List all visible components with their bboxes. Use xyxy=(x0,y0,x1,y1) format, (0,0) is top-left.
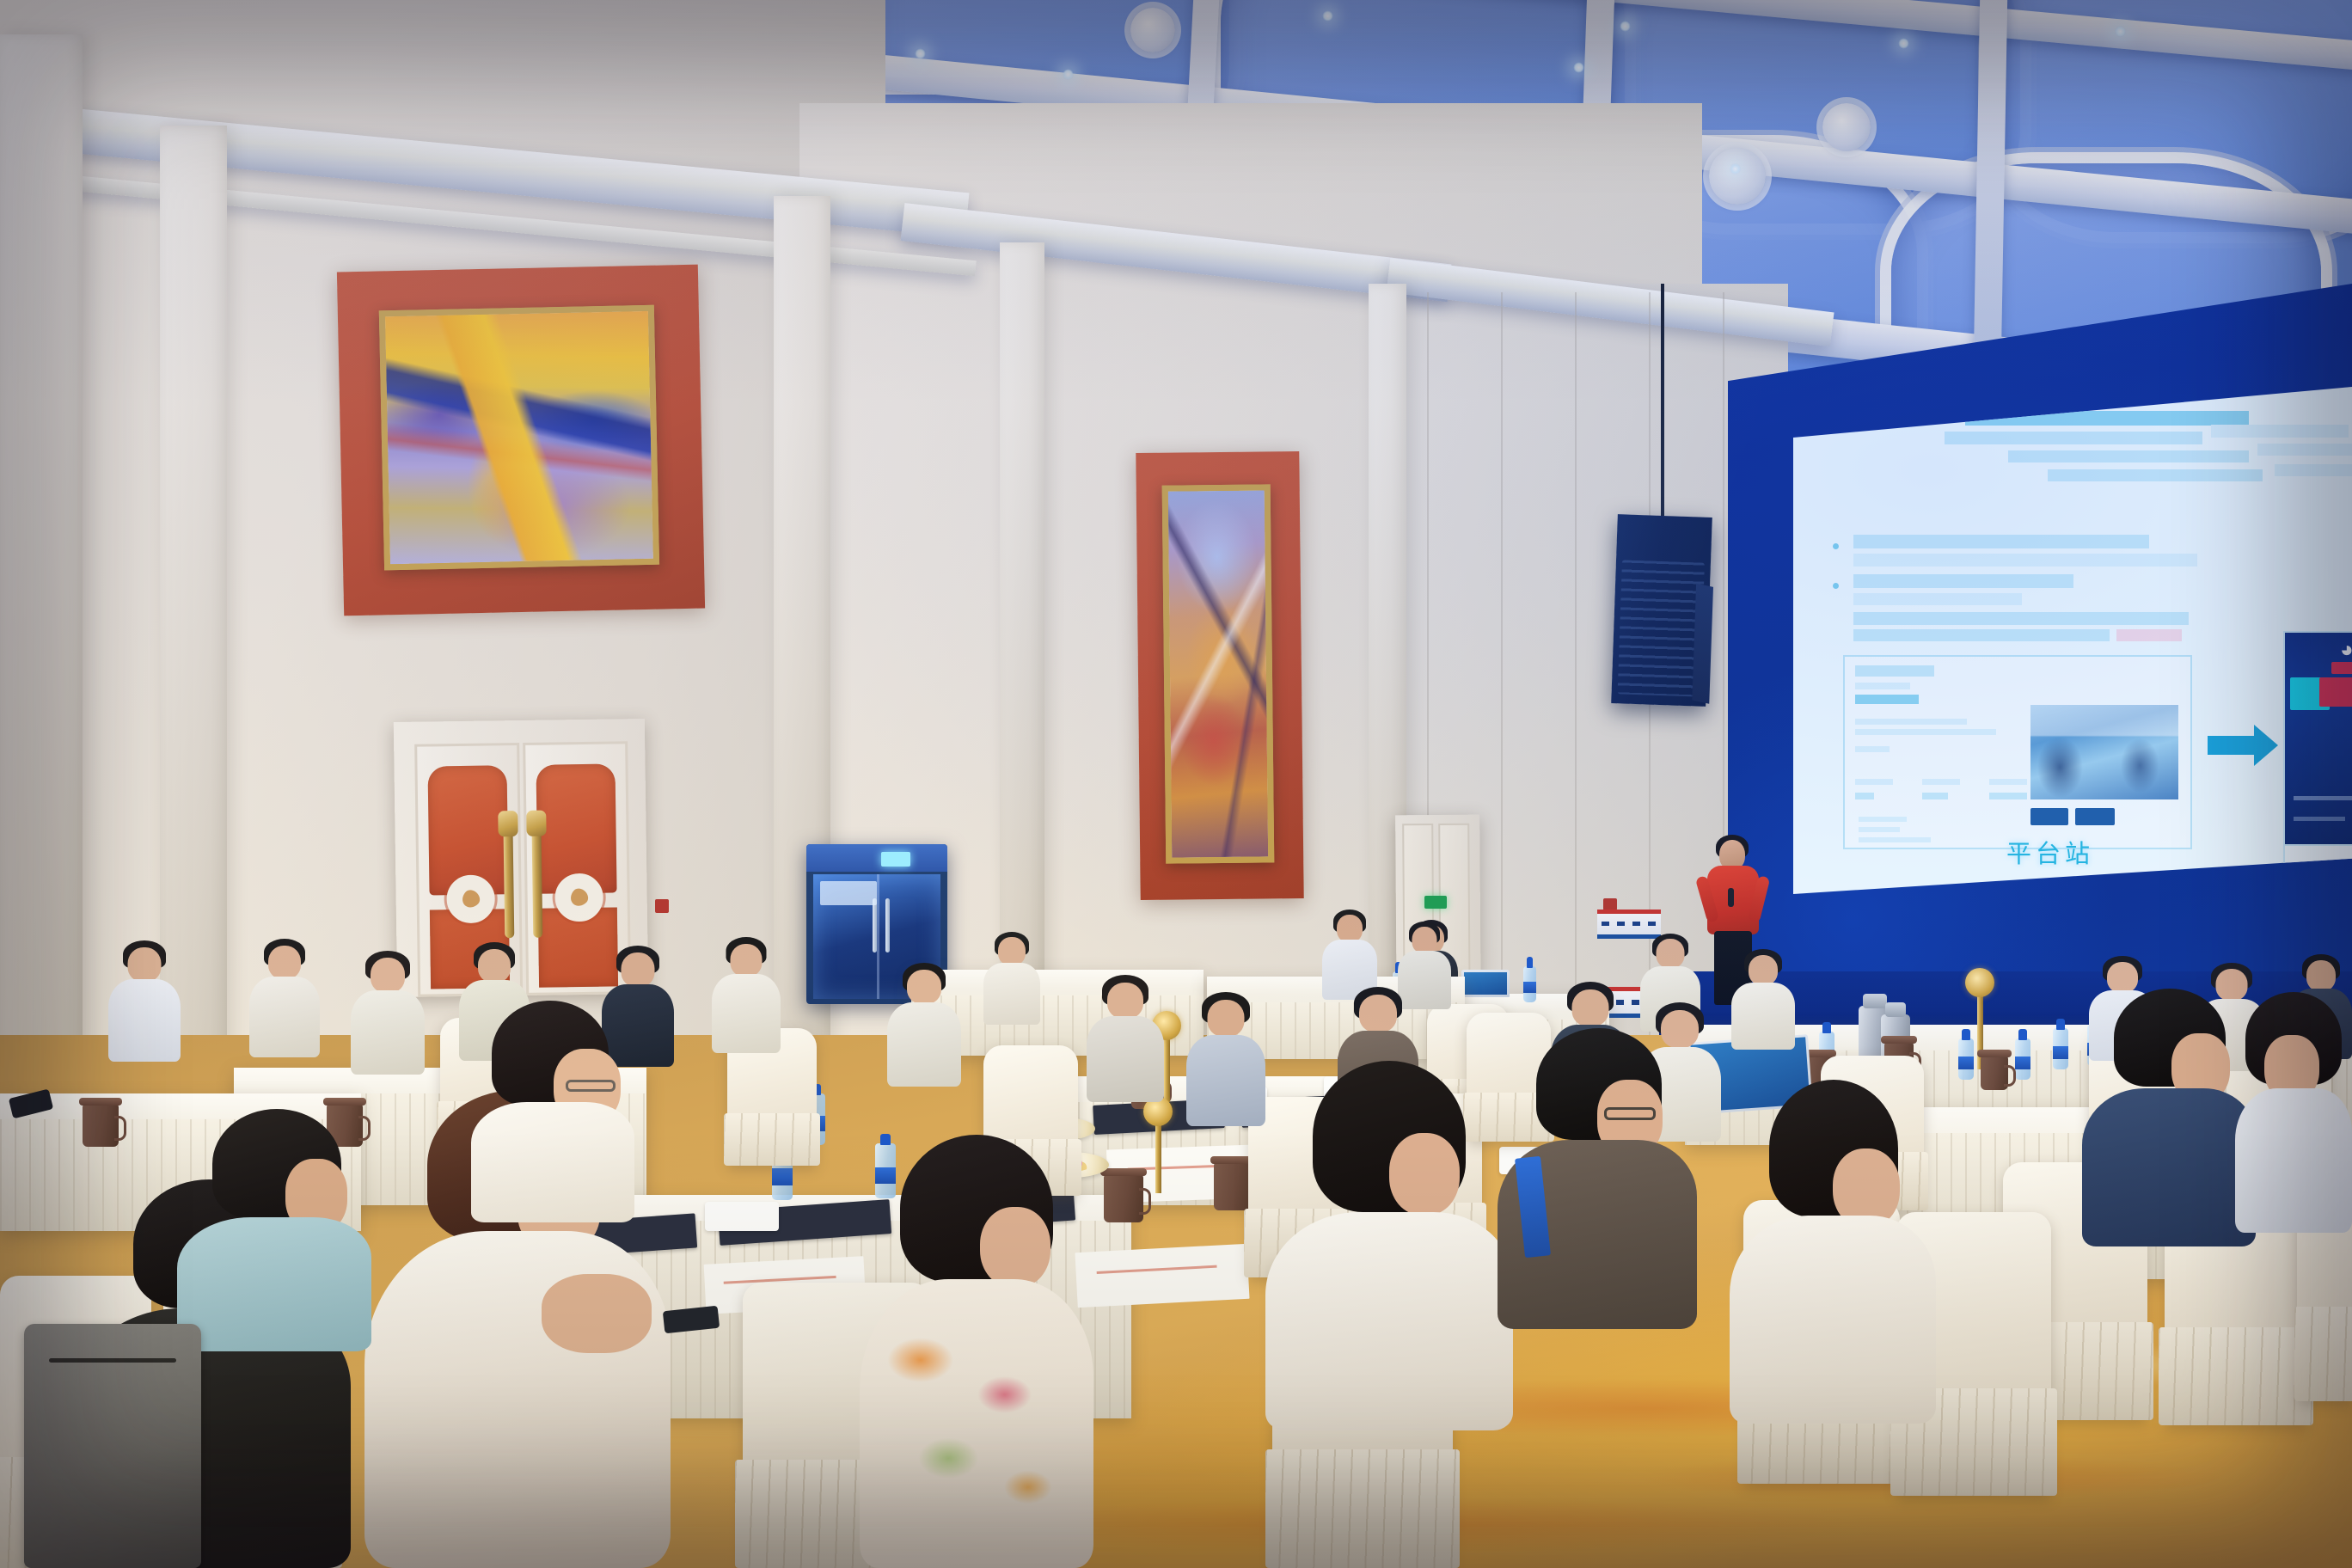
attendee xyxy=(887,963,961,1092)
attendee-foreground-grey-vest xyxy=(1496,1028,1702,1329)
table-number-stand xyxy=(1164,1038,1170,1102)
framed-painting-portrait xyxy=(1162,484,1275,863)
wifi-icon: ◕ xyxy=(2340,638,2352,660)
art-panel-portrait xyxy=(1136,451,1303,900)
attendee-torso xyxy=(471,1102,634,1222)
redacted-bullet-text xyxy=(1853,554,2197,567)
wall-pilaster xyxy=(1000,242,1044,1050)
mockup-list-item xyxy=(1859,817,1907,822)
redacted-text-block xyxy=(2048,469,2263,481)
speaker-suspension-cable xyxy=(1661,284,1664,516)
wall-alarm-icon xyxy=(655,899,669,913)
mockup-title-block xyxy=(1855,665,1934,677)
redacted-text-block xyxy=(1945,432,2202,444)
mobile-app-mockup: ◕ xyxy=(2283,631,2352,846)
wall-alarm-icon xyxy=(1603,898,1617,910)
attendee-torso xyxy=(2082,1088,2256,1246)
handheld-microphone-icon xyxy=(1728,888,1734,907)
fridge-display-icon xyxy=(881,852,910,867)
flow-arrow-icon xyxy=(2208,736,2256,755)
redacted-text-block xyxy=(2275,464,2352,476)
mockup-stat-label xyxy=(1922,779,1960,785)
ceiling-spotlight xyxy=(1898,38,1909,49)
redacted-text-block xyxy=(1853,612,2189,625)
attendee xyxy=(1186,992,1265,1133)
attendee xyxy=(249,939,320,1064)
attendee xyxy=(351,951,425,1083)
backpack[interactable] xyxy=(24,1324,201,1568)
redacted-bullet-text xyxy=(1853,574,2073,588)
attendee-torso xyxy=(1730,1216,1936,1424)
attendee xyxy=(1087,975,1164,1109)
ceiling-spotlight xyxy=(2115,26,2126,37)
app-text-line xyxy=(2294,817,2345,821)
door-handle[interactable] xyxy=(532,830,543,938)
framed-painting-landscape xyxy=(379,305,659,571)
painting-abstract-figure xyxy=(1168,490,1268,857)
mockup-stat-label xyxy=(1989,779,2027,785)
app-text-line xyxy=(2294,796,2352,800)
attendee-foreground-white-shirt xyxy=(1260,1061,1518,1430)
attendee-torso xyxy=(177,1217,371,1351)
eyeglasses-icon xyxy=(566,1080,616,1092)
mockup-button-secondary[interactable] xyxy=(2075,808,2115,825)
folded-napkin xyxy=(705,1202,779,1231)
mockup-text-block xyxy=(1855,729,1996,735)
attendee-face xyxy=(1389,1133,1460,1216)
water-bottle[interactable] xyxy=(1523,966,1536,1002)
fridge-handle-left[interactable] xyxy=(873,898,877,952)
fridge-handle-right[interactable] xyxy=(885,898,890,952)
attendee-foreground-floral xyxy=(856,1135,1097,1568)
mockup-stat-value xyxy=(1922,793,1948,799)
attendee xyxy=(108,940,181,1069)
mockup-text-block xyxy=(1855,719,1967,725)
mockup-button-primary[interactable] xyxy=(2030,808,2068,825)
painting-abstract-landscape xyxy=(385,311,653,564)
fridge-label xyxy=(820,881,877,905)
fridge-header xyxy=(806,844,947,872)
ceiling-spotlight xyxy=(1063,69,1074,80)
table-number-stand xyxy=(1155,1124,1161,1193)
attendee xyxy=(983,932,1040,1026)
speaker-grille-icon xyxy=(1617,560,1705,696)
fridge-door-divider xyxy=(877,874,879,999)
redacted-text-block xyxy=(1853,629,2110,641)
mockup-tag-block xyxy=(1855,695,1919,704)
bullet-marker-icon xyxy=(1833,583,1839,589)
door-handle[interactable] xyxy=(504,830,515,938)
ceiling-rosette xyxy=(1130,8,1175,52)
redacted-text-block xyxy=(2211,425,2349,438)
wall-pilaster xyxy=(0,34,83,1066)
ceiling-spotlight xyxy=(1620,21,1631,32)
redacted-text-block xyxy=(2257,444,2352,456)
mockup-text-block xyxy=(1855,746,1890,752)
water-bottle[interactable] xyxy=(2053,1028,2068,1069)
attendee-foreground-glasses xyxy=(464,1001,636,1216)
mockup-stat-label xyxy=(1855,779,1893,785)
attendee-foreground-ponytail xyxy=(1726,1080,1941,1424)
ceiling-spotlight xyxy=(1573,62,1584,73)
attendee-torso xyxy=(860,1279,1093,1568)
mockup-list-item xyxy=(1859,827,1900,832)
door-medallion-icon xyxy=(446,874,495,923)
mockup-stat-value xyxy=(1989,793,2027,799)
attendee xyxy=(712,937,781,1061)
redacted-bullet-text xyxy=(1853,593,2022,605)
clay-teacup[interactable] xyxy=(1104,1174,1143,1222)
app-banner-main xyxy=(2319,677,2352,707)
attendee-navy-shirt xyxy=(2080,989,2259,1246)
notepaper xyxy=(1075,1244,1249,1308)
app-banner-tag xyxy=(2331,662,2352,674)
clay-teacup[interactable] xyxy=(83,1104,119,1147)
ceiling-spotlight xyxy=(1322,10,1333,21)
art-panel-landscape xyxy=(337,265,705,616)
laptop[interactable] xyxy=(1461,970,1510,997)
mockup-photo-meeting-room xyxy=(2030,705,2178,799)
clay-teacup[interactable] xyxy=(1981,1056,2008,1090)
web-page-mockup xyxy=(1843,655,2192,849)
redacted-bullet-text xyxy=(1853,535,2149,548)
ceiling-spotlight xyxy=(1730,163,1741,175)
attendee xyxy=(1731,949,1795,1052)
bullet-marker-icon xyxy=(1833,543,1839,549)
door-medallion-icon xyxy=(554,873,603,922)
mockup-stat-value xyxy=(1855,793,1874,799)
redacted-text-block xyxy=(2008,450,2249,462)
mockup-list-item xyxy=(1859,837,1931,842)
mockup-meta-block xyxy=(1855,683,1910,689)
eyeglasses-icon xyxy=(1604,1107,1656,1120)
attendee-torso xyxy=(2235,1088,2352,1233)
ceiling-rosette xyxy=(1709,148,1766,205)
water-bottle[interactable] xyxy=(1958,1038,1974,1080)
attendee-arm xyxy=(542,1274,652,1353)
attendee-far-right xyxy=(2235,992,2352,1233)
ceiling-rosette xyxy=(1822,103,1871,151)
attendee-face xyxy=(980,1207,1050,1288)
slide-caption: 平台站 xyxy=(2006,834,2094,870)
ceiling-spotlight xyxy=(915,48,926,59)
line-array-speaker xyxy=(1611,514,1712,707)
redacted-highlight-block xyxy=(2116,629,2182,641)
slide-content: ◕ 平台站 xyxy=(1793,387,2352,894)
exit-sign xyxy=(1424,896,1447,909)
attendee-foreground-blue-shirt xyxy=(175,1109,378,1351)
attendee-torso xyxy=(1265,1212,1513,1430)
conference-hall-photo: ◕ 平台站 xyxy=(0,0,2352,1568)
water-bottle[interactable] xyxy=(2015,1038,2030,1080)
projection-screen: ◕ 平台站 xyxy=(1793,387,2352,894)
